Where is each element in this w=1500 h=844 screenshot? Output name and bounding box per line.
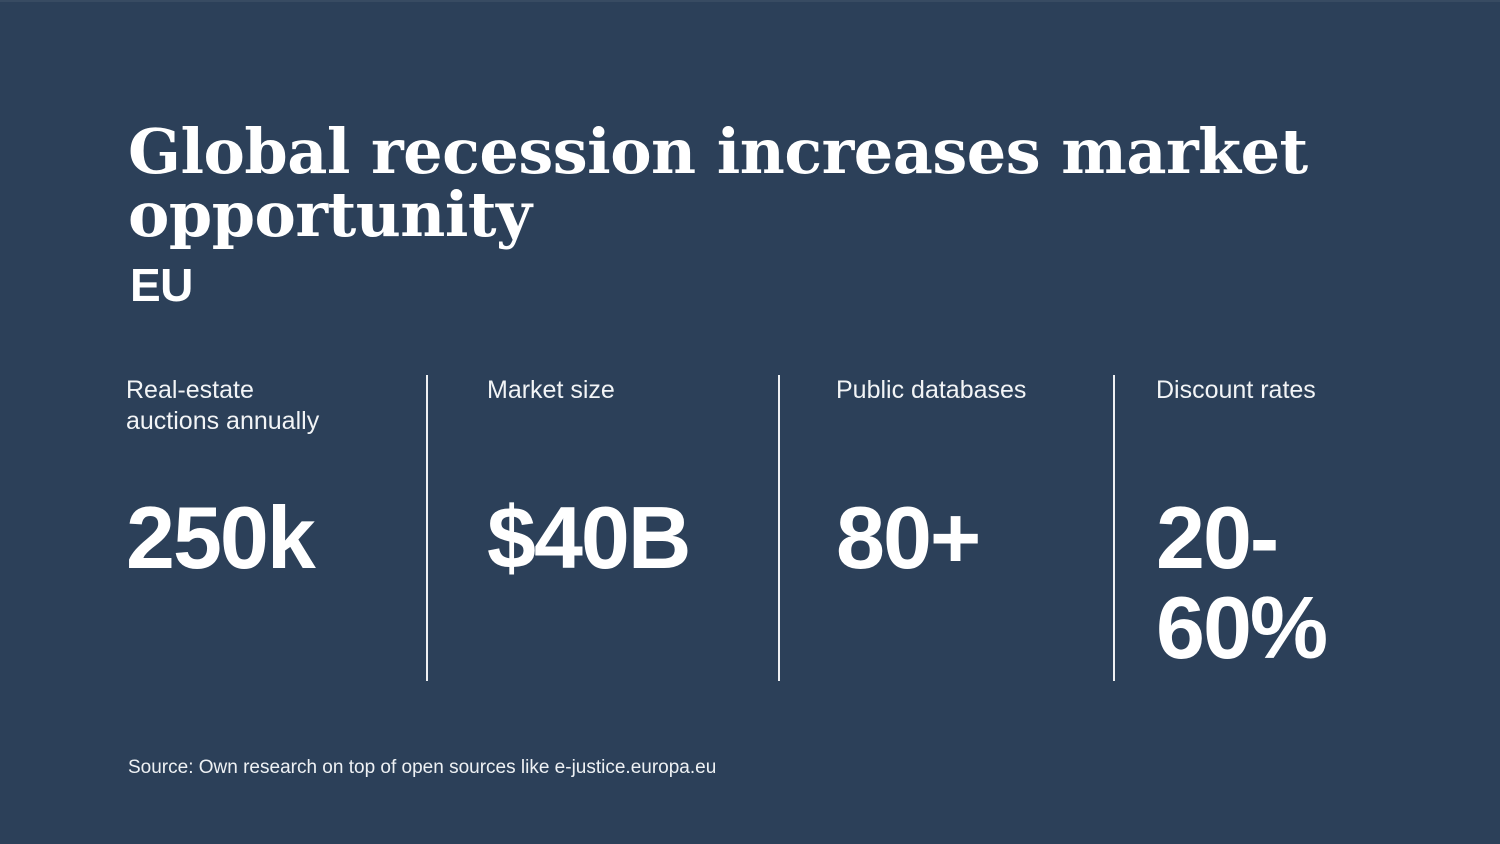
stat-label: Market size	[487, 375, 764, 406]
column-divider	[1113, 375, 1115, 681]
source-note: Source: Own research on top of open sour…	[128, 756, 716, 781]
stat-column-public-databases: Public databases 80+	[778, 375, 1113, 681]
region-subtitle: EU	[130, 262, 193, 308]
stat-column-market-size: Market size $40B	[426, 375, 778, 681]
column-divider	[426, 375, 428, 681]
stat-label: Real-estate auctions annually	[126, 375, 412, 436]
stat-label: Discount rates	[1156, 375, 1362, 406]
stat-value: 80+	[836, 493, 979, 583]
stat-column-discount-rates: Discount rates 20-60%	[1113, 375, 1376, 681]
stat-value: 20-60%	[1156, 493, 1371, 673]
page-title: Global recession increases market opport…	[128, 120, 1378, 246]
stat-value: 250k	[126, 493, 314, 583]
slide-canvas: Global recession increases market opport…	[0, 0, 1500, 844]
stat-label: Public databases	[836, 375, 1099, 406]
stats-row: Real-estate auctions annually 250k Marke…	[126, 375, 1376, 681]
stat-value: $40B	[487, 493, 689, 583]
stat-column-real-estate-auctions: Real-estate auctions annually 250k	[126, 375, 426, 681]
column-divider	[778, 375, 780, 681]
